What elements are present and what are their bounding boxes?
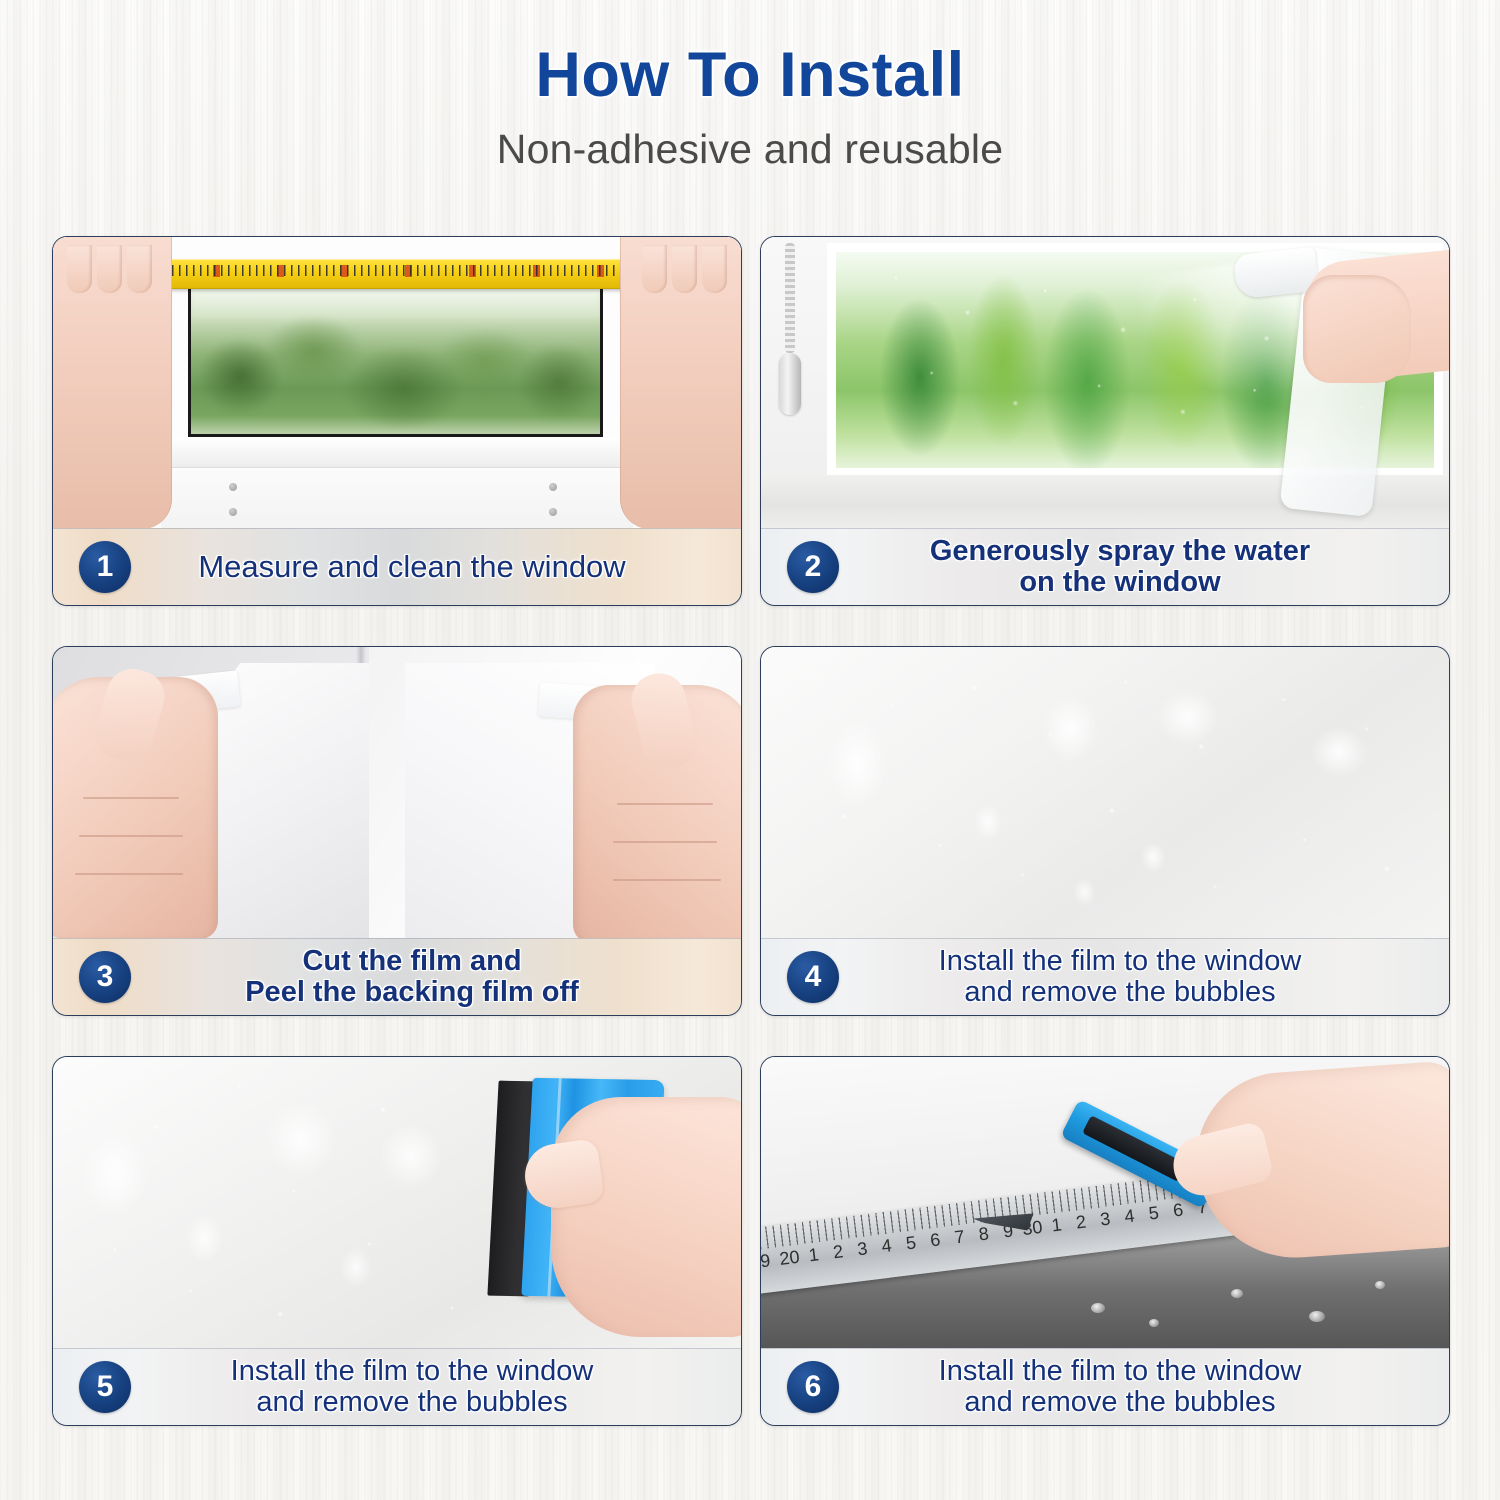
ruler-mark: 1 [800, 1243, 828, 1274]
step-caption-text-6: Install the film to the window and remov… [853, 1356, 1449, 1419]
window-measuring-tape-photo [53, 237, 741, 529]
step-badge-4: 4 [787, 951, 839, 1003]
blind-chain-weight [779, 353, 801, 415]
step-card-4: 4 Install the film to the window and rem… [760, 646, 1450, 1016]
ruler-mark: 2 [825, 1240, 853, 1271]
ruler-mark: 4 [1116, 1205, 1144, 1236]
blind-chain [785, 243, 795, 353]
frosted-film-bubbles-photo [761, 647, 1449, 939]
right-hand [573, 685, 741, 939]
tape-measure-icon [157, 259, 637, 289]
step-caption-text-1: Measure and clean the window [145, 550, 741, 583]
step-badge-5: 5 [79, 1361, 131, 1413]
step-card-6: 920123456789301234567894012345678 6 Inst… [760, 1056, 1450, 1426]
step-caption-bar-4: 4 Install the film to the window and rem… [761, 938, 1449, 1015]
ruler-mark: 20 [776, 1246, 804, 1277]
ruler-mark: 3 [1092, 1208, 1120, 1239]
hand-holding-bottle [1303, 275, 1411, 383]
header: How To Install Non-adhesive and reusable [0, 0, 1500, 170]
step-caption-bar-1: 1 Measure and clean the window [53, 528, 741, 605]
ruler-mark: 5 [898, 1231, 926, 1262]
left-hand [53, 237, 172, 529]
ruler-mark: 4 [873, 1234, 901, 1265]
ruler-mark: 5 [1140, 1202, 1168, 1233]
step-caption-bar-2: 2 Generously spray the water on the wind… [761, 528, 1449, 605]
step-caption-bar-3: 3 Cut the film and Peel the backing film… [53, 938, 741, 1015]
ruler-mark: 3 [849, 1237, 877, 1268]
step-card-5: 3M 5 Install the film to the window and … [52, 1056, 742, 1426]
step-caption-text-4: Install the film to the window and remov… [853, 946, 1449, 1009]
peeling-backing-film-photo [53, 647, 741, 939]
page-background: How To Install Non-adhesive and reusable [0, 0, 1500, 1500]
ruler-mark: 7 [946, 1225, 974, 1256]
step-card-1: 1 Measure and clean the window [52, 236, 742, 606]
ruler-mark: 8 [970, 1223, 998, 1254]
water-droplets [761, 647, 1449, 939]
step-caption-bar-6: 6 Install the film to the window and rem… [761, 1348, 1449, 1425]
right-hand [620, 237, 741, 529]
ruler-mark: 1 [1043, 1214, 1071, 1245]
ruler-mark: 6 [922, 1228, 950, 1259]
step-caption-bar-5: 5 Install the film to the window and rem… [53, 1348, 741, 1425]
spray-bottle-window-photo [761, 237, 1449, 529]
step-caption-text-5: Install the film to the window and remov… [145, 1356, 741, 1419]
ruler-mark: 6 [1165, 1199, 1193, 1230]
squeegee-removing-bubbles-photo: 3M [53, 1057, 741, 1349]
step-card-2: 2 Generously spray the water on the wind… [760, 236, 1450, 606]
step-caption-text-2: Generously spray the water on the window [853, 536, 1449, 599]
step-caption-text-3: Cut the film and Peel the backing film o… [145, 946, 741, 1009]
left-hand [53, 677, 218, 939]
page-subtitle: Non-adhesive and reusable [0, 129, 1500, 170]
step-card-3: 3 Cut the film and Peel the backing film… [52, 646, 742, 1016]
page-title: How To Install [0, 44, 1500, 107]
utility-knife-ruler-photo: 920123456789301234567894012345678 [761, 1057, 1449, 1349]
steps-grid: 1 Measure and clean the window [52, 236, 1448, 1424]
ruler-mark: 2 [1068, 1211, 1096, 1242]
step-badge-1: 1 [79, 541, 131, 593]
step-badge-6: 6 [787, 1361, 839, 1413]
window-glass [188, 279, 603, 437]
hand-holding-squeegee [551, 1097, 741, 1337]
step-badge-2: 2 [787, 541, 839, 593]
step-badge-3: 3 [79, 951, 131, 1003]
